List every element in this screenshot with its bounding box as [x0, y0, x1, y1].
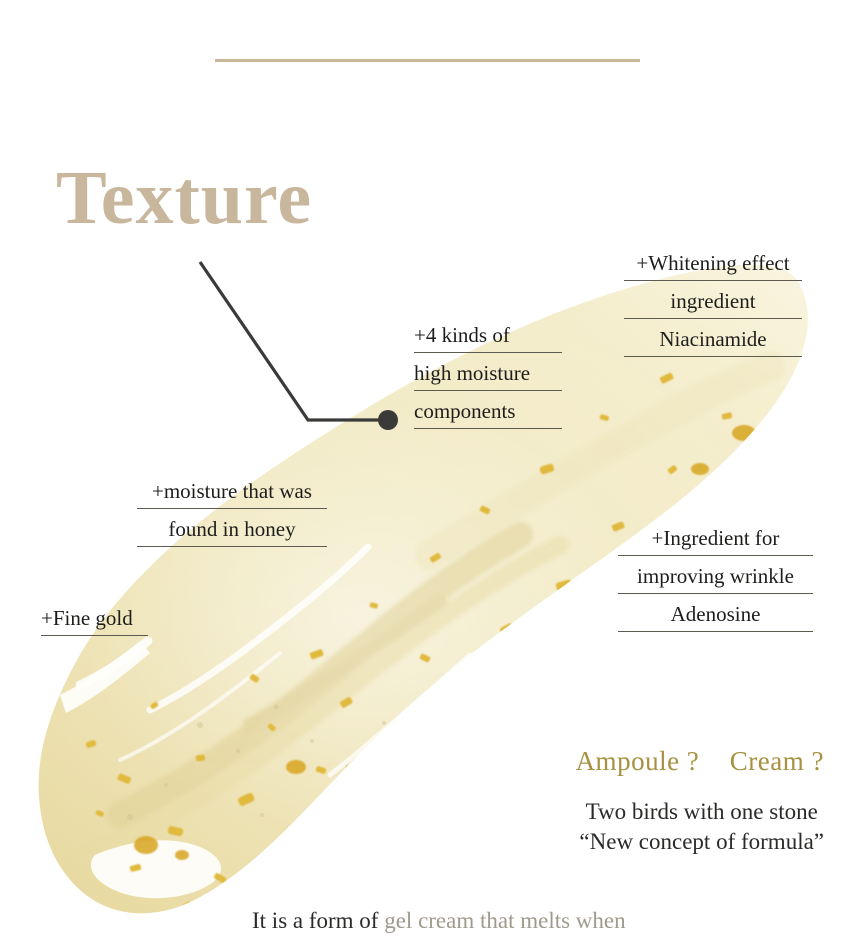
- callout-line: +Ingredient for: [618, 528, 813, 556]
- callout-line: components: [414, 401, 562, 429]
- product-detail-page: Texture: [0, 0, 860, 939]
- page-title: Texture: [56, 160, 312, 236]
- callout-line: ingredient: [624, 291, 802, 319]
- callout-line: +4 kinds of: [414, 325, 562, 353]
- ampoule-cream-question: Ampoule ? Cream ?: [576, 746, 824, 777]
- callout-whitening: +Whitening effect ingredient Niacinamide: [624, 253, 802, 367]
- callout-line: improving wrinkle: [618, 566, 813, 594]
- callout-line: +Whitening effect: [624, 253, 802, 281]
- callout-four-kinds: +4 kinds of high moisture components: [414, 325, 562, 439]
- tagline-block: Two birds with one stone “New concept of…: [579, 797, 824, 858]
- description-lead: It is a form of: [252, 908, 384, 933]
- tagline-line-1: Two birds with one stone: [579, 797, 824, 827]
- callout-honey-moisture: +moisture that was found in honey: [137, 481, 327, 557]
- ampoule-label: Ampoule ?: [576, 746, 700, 776]
- tagline-line-2: “New concept of formula”: [579, 827, 824, 857]
- callout-line: found in honey: [137, 519, 327, 547]
- description-line: It is a form of gel cream that melts whe…: [252, 908, 626, 934]
- callout-adenosine: +Ingredient for improving wrinkle Adenos…: [618, 528, 813, 642]
- description-highlight: gel cream that melts when: [384, 908, 625, 933]
- callout-line: high moisture: [414, 363, 562, 391]
- callout-line: +Fine gold: [41, 608, 148, 636]
- callout-line: +moisture that was: [137, 481, 327, 509]
- top-divider: [215, 59, 640, 62]
- cream-label: Cream ?: [730, 746, 824, 776]
- callout-fine-gold: +Fine gold: [41, 608, 148, 646]
- callout-line: Niacinamide: [624, 329, 802, 357]
- callout-line: Adenosine: [618, 604, 813, 632]
- callout-anchor-dot: [378, 410, 398, 430]
